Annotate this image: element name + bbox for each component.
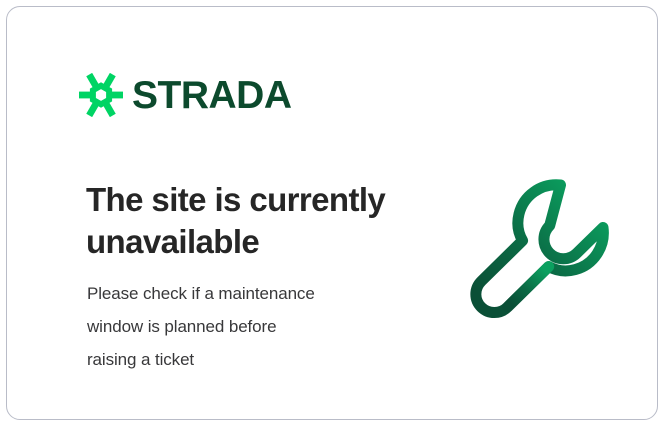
page-title: The site is currently unavailable <box>86 179 416 262</box>
page-root: STRADA The site is currently unavailable… <box>0 0 666 436</box>
description-line: raising a ticket <box>87 343 407 376</box>
wrench-icon <box>459 159 623 319</box>
status-description: Please check if a maintenance window is … <box>87 277 407 376</box>
brand-wordmark: STRADA <box>132 76 292 115</box>
status-card: STRADA The site is currently unavailable… <box>6 6 658 420</box>
brand-lockup: STRADA <box>79 73 292 117</box>
description-line: Please check if a maintenance <box>87 277 407 310</box>
description-line: window is planned before <box>87 310 407 343</box>
strada-asterisk-logo-icon <box>79 73 123 117</box>
